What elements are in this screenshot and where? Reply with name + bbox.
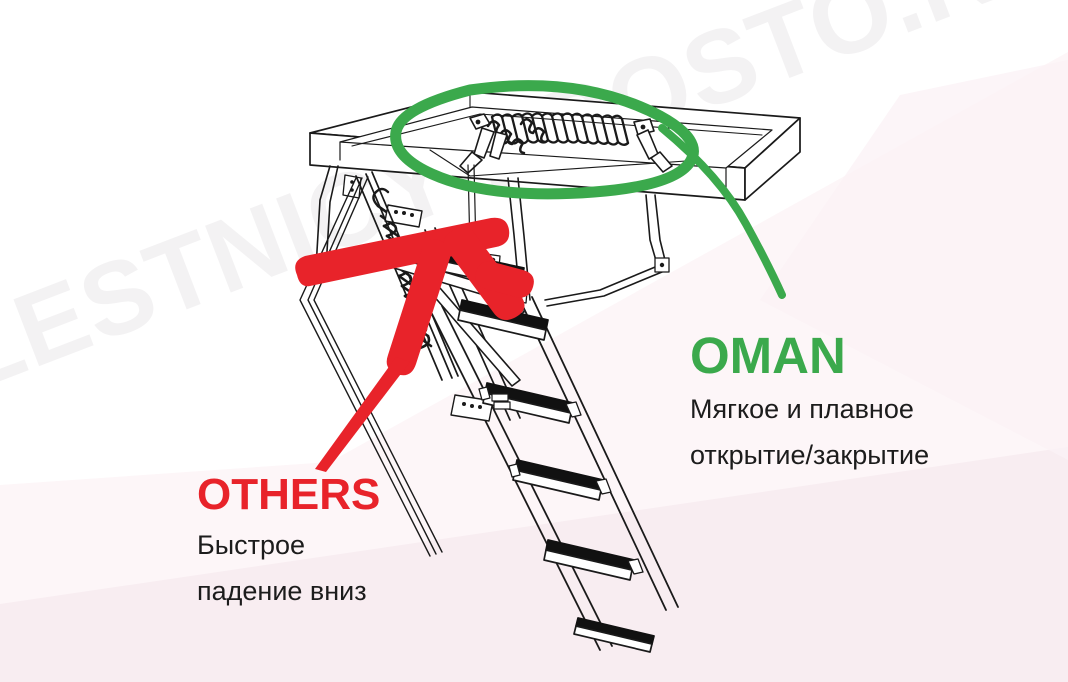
oman-title: OMAN [690, 330, 929, 381]
oman-caption-line2: открытие/закрытие [690, 438, 929, 473]
oman-caption-line1: Мягкое и плавное [690, 392, 929, 427]
green-ellipse-marker [396, 86, 694, 194]
oman-label-block: OMAN Мягкое и плавное открытие/закрытие [690, 330, 929, 472]
others-caption-line2: падение вниз [197, 574, 380, 609]
others-caption-line1: Быстрое [197, 528, 380, 563]
infographic-canvas: LESTNICY-PROSTO.RU [0, 0, 1068, 682]
others-title: OTHERS [197, 473, 380, 517]
green-leader-line [662, 128, 782, 295]
others-label-block: OTHERS Быстрое падение вниз [197, 473, 380, 608]
